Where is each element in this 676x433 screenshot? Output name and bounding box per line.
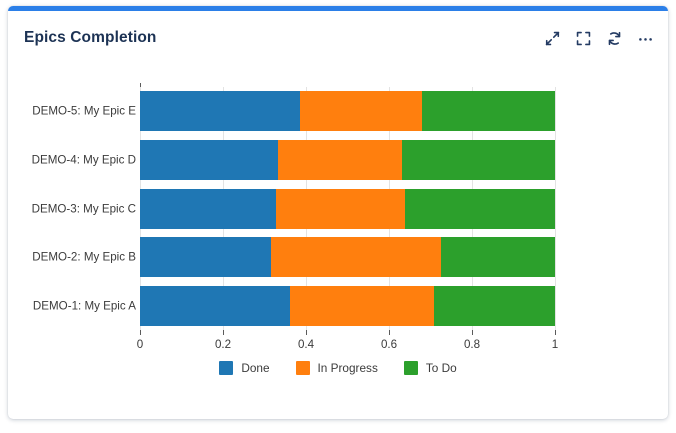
bar-segment[interactable]	[271, 237, 441, 277]
x-axis-label: 0.6	[381, 338, 397, 351]
x-axis-tick	[223, 330, 224, 335]
more-options-icon[interactable]	[637, 30, 654, 47]
bar-segment[interactable]	[434, 286, 555, 326]
bar-segment[interactable]	[140, 91, 300, 131]
legend-swatch	[404, 361, 418, 375]
legend-swatch	[219, 361, 233, 375]
bar-segment[interactable]	[422, 91, 555, 131]
legend-label: Done	[241, 361, 269, 375]
page-title: Epics Completion	[24, 29, 157, 47]
legend-swatch	[296, 361, 310, 375]
y-axis-label: DEMO-4: My Epic D	[10, 153, 136, 166]
x-axis-tick	[555, 330, 556, 335]
bar-segment[interactable]	[405, 189, 555, 229]
bar-row[interactable]	[140, 189, 555, 229]
bar-segment[interactable]	[140, 189, 276, 229]
x-axis-ticks	[140, 330, 555, 336]
x-axis-tick	[472, 330, 473, 335]
x-axis-tick	[389, 330, 390, 335]
bar-segment[interactable]	[290, 286, 434, 326]
refresh-icon[interactable]	[606, 30, 623, 47]
x-axis-labels: 00.20.40.60.81	[140, 338, 555, 354]
bar-row[interactable]	[140, 237, 555, 277]
y-axis-label: DEMO-5: My Epic E	[10, 105, 136, 118]
bar-segment[interactable]	[276, 189, 405, 229]
header-actions	[544, 30, 654, 47]
legend-label: To Do	[426, 361, 457, 375]
chart-legend: DoneIn ProgressTo Do	[8, 361, 668, 375]
bar-segment[interactable]	[278, 140, 402, 180]
bar-row[interactable]	[140, 286, 555, 326]
y-axis-labels: DEMO-5: My Epic EDEMO-4: My Epic DDEMO-3…	[8, 87, 136, 330]
bar-segment[interactable]	[140, 237, 271, 277]
bar-segment[interactable]	[140, 286, 290, 326]
fullscreen-icon[interactable]	[575, 30, 592, 47]
bar-row[interactable]	[140, 140, 555, 180]
x-axis-label: 0.4	[298, 338, 314, 351]
y-axis-label: DEMO-2: My Epic B	[10, 251, 136, 264]
gridline	[555, 87, 556, 330]
x-axis-label: 0	[137, 338, 143, 351]
epics-completion-card: Epics Completion	[8, 6, 668, 419]
x-axis-tick	[306, 330, 307, 335]
bar-segment[interactable]	[300, 91, 422, 131]
legend-item[interactable]: In Progress	[296, 361, 378, 375]
x-axis-label: 0.8	[464, 338, 480, 351]
legend-label: In Progress	[318, 361, 378, 375]
legend-item[interactable]: Done	[219, 361, 269, 375]
epics-completion-chart: DEMO-5: My Epic EDEMO-4: My Epic DDEMO-3…	[8, 59, 668, 399]
y-axis-label: DEMO-3: My Epic C	[10, 202, 136, 215]
legend-item[interactable]: To Do	[404, 361, 457, 375]
collapse-icon[interactable]	[544, 30, 561, 47]
bar-segment[interactable]	[441, 237, 555, 277]
bar-row[interactable]	[140, 91, 555, 131]
bar-segment[interactable]	[402, 140, 555, 180]
x-axis-label: 1	[552, 338, 558, 351]
bar-segment[interactable]	[140, 140, 278, 180]
x-axis-label: 0.2	[215, 338, 231, 351]
x-axis-tick	[140, 330, 141, 335]
card-header: Epics Completion	[8, 11, 668, 59]
plot-area	[140, 87, 555, 330]
y-axis-label: DEMO-1: My Epic A	[10, 299, 136, 312]
